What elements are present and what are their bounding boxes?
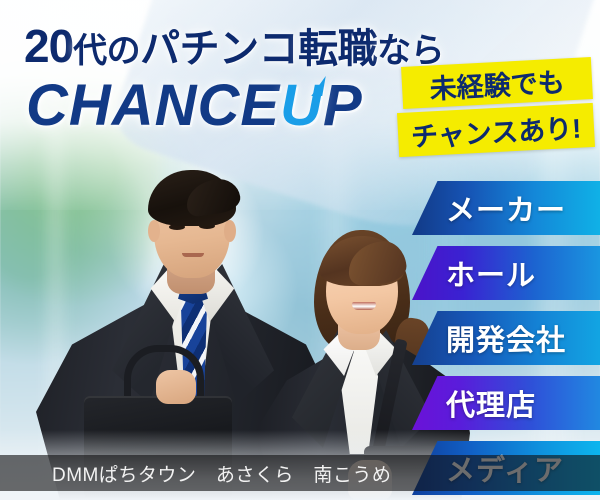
logo-letter-p: P — [323, 73, 363, 138]
man-mouth — [182, 253, 204, 257]
advertisement-banner[interactable]: 20代のパチンコ転職なら CHANCEUP 未経験でも チャンスあり! メーカー… — [0, 0, 600, 500]
highlight-banner-experience-label: 未経験でも — [429, 60, 566, 106]
headline-pachinko: パチンコ — [140, 27, 298, 71]
logo-word-chance: CHANCE — [26, 73, 280, 138]
category-button-agency[interactable]: 代理店 — [412, 376, 600, 430]
category-button-hall[interactable]: ホール — [412, 246, 600, 300]
headline-line-1: 20代のパチンコ転職なら — [24, 16, 444, 74]
category-label-agency: 代理店 — [446, 382, 536, 424]
category-label-development-company: 開発会社 — [446, 317, 566, 359]
woman-smile — [352, 302, 376, 310]
logo-chance-up: CHANCEUP — [26, 72, 363, 139]
headline-tenshoku: 転職 — [298, 27, 377, 71]
man-ear-left — [148, 220, 160, 242]
highlight-banner-chance-label: チャンスあり! — [410, 106, 582, 154]
headline-age-suffix: 代の — [73, 32, 140, 70]
man-hand — [156, 370, 196, 404]
caption-bar: DMMぱちタウン あさくら 南こうめ — [0, 455, 600, 491]
category-button-development-company[interactable]: 開発会社 — [412, 311, 600, 365]
logo-letter-u: U — [280, 72, 323, 139]
caption-text: DMMぱちタウン あさくら 南こうめ — [52, 460, 391, 487]
category-label-hall: ホール — [446, 252, 536, 294]
man-ear-right — [224, 220, 236, 242]
category-button-maker[interactable]: メーカー — [412, 181, 600, 235]
category-label-maker: メーカー — [446, 187, 566, 229]
headline-age-number: 20 — [24, 20, 73, 72]
